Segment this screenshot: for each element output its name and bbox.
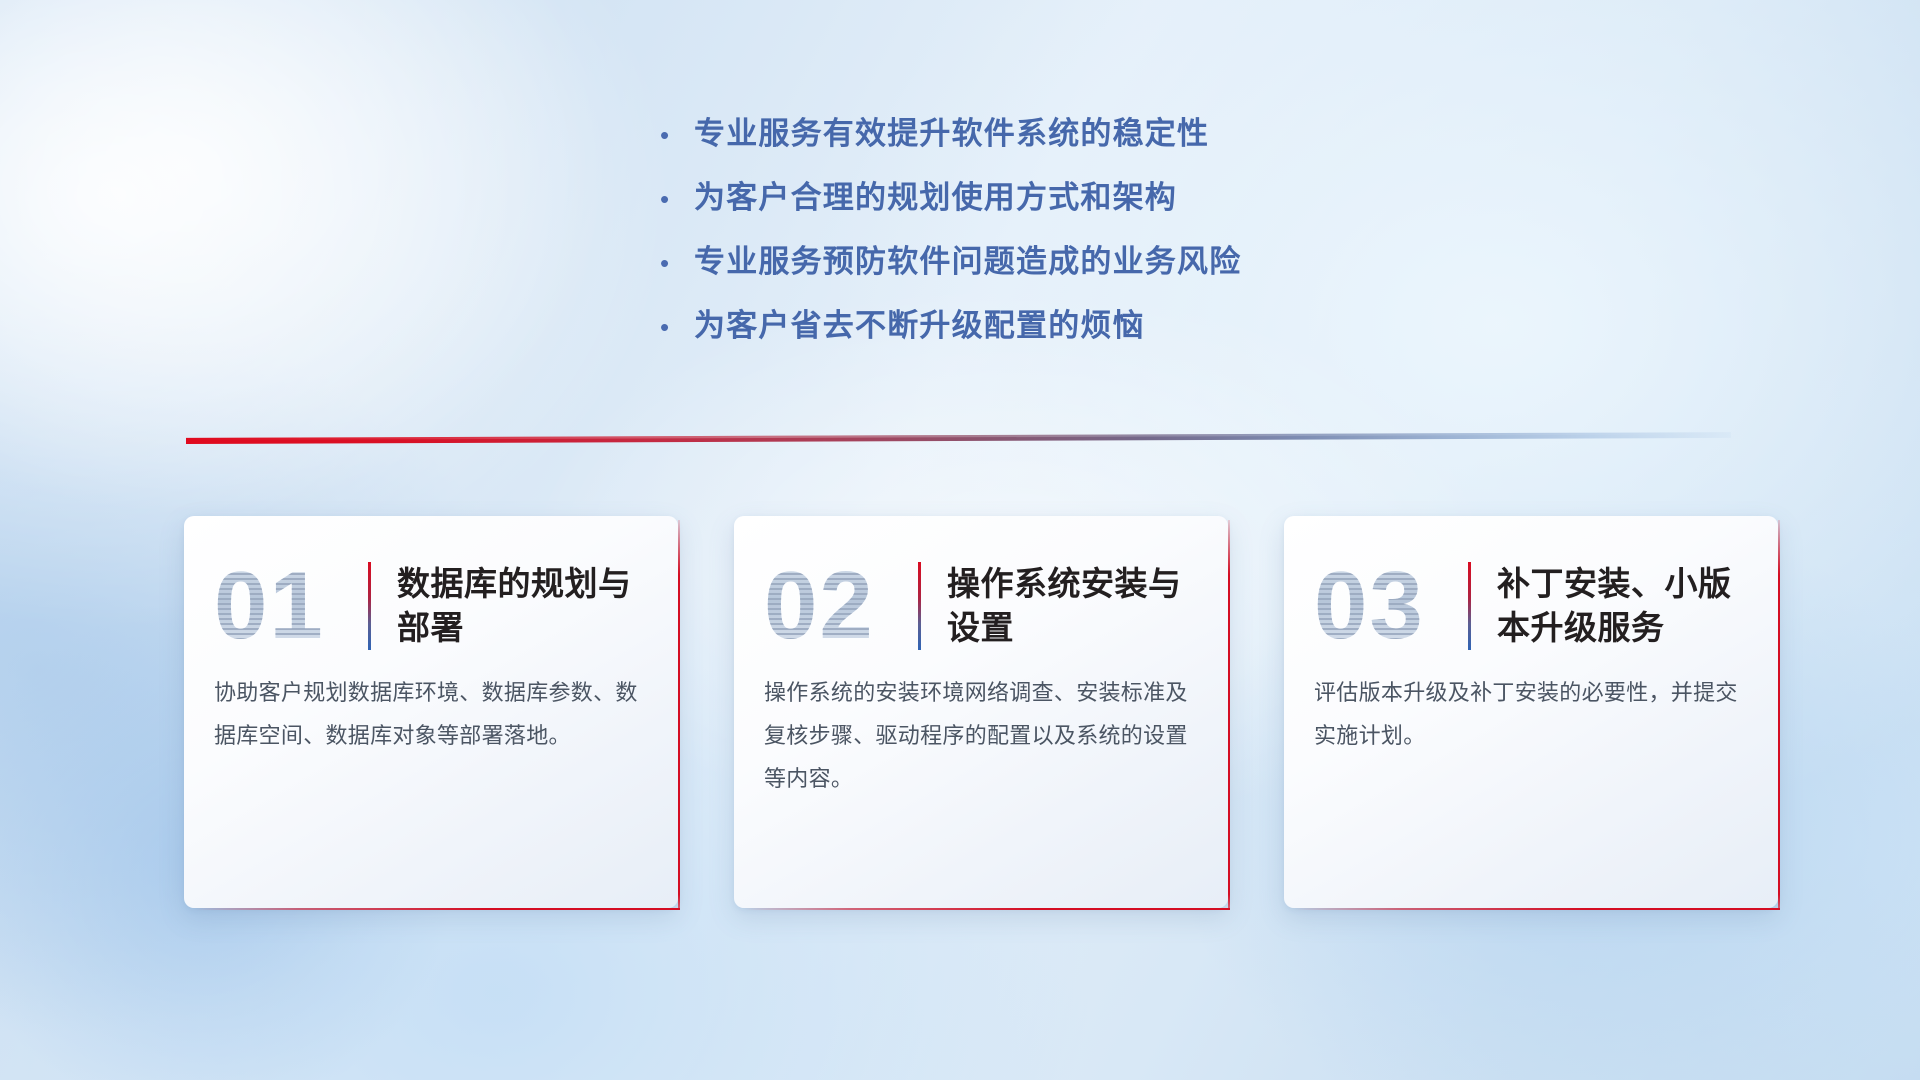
card-divider-rule xyxy=(1468,562,1471,650)
bullet-text: 为客户合理的规划使用方式和架构 xyxy=(694,172,1177,217)
card-header: 03 补丁安装、小版本升级服务 xyxy=(1284,516,1778,662)
card-body-text: 操作系统的安装环境网络调查、安装标准及复核步骤、驱动程序的配置以及系统的设置等内… xyxy=(734,662,1228,801)
card-title: 操作系统安装与设置 xyxy=(947,562,1198,649)
list-item: • 专业服务有效提升软件系统的稳定性 xyxy=(660,108,1720,172)
card-accent-bottom xyxy=(1294,908,1780,910)
bullet-dot-icon: • xyxy=(660,122,694,148)
card-header: 02 操作系统安装与设置 xyxy=(734,516,1228,662)
bullet-dot-icon: • xyxy=(660,250,694,276)
card-title: 数据库的规划与部署 xyxy=(397,562,648,649)
card-divider-rule xyxy=(368,562,371,650)
card-number: 01 xyxy=(214,558,364,654)
list-item: • 为客户合理的规划使用方式和架构 xyxy=(660,172,1720,236)
card-accent-bottom xyxy=(744,908,1230,910)
card-number: 02 xyxy=(764,558,914,654)
background-glow-top-left xyxy=(0,0,640,540)
service-card[interactable]: 03 补丁安装、小版本升级服务 评估版本升级及补丁安装的必要性，并提交实施计划。 xyxy=(1284,516,1778,908)
bullet-text: 专业服务预防软件问题造成的业务风险 xyxy=(694,236,1241,281)
card-accent-right xyxy=(678,520,680,910)
service-card[interactable]: 01 数据库的规划与部署 协助客户规划数据库环境、数据库参数、数据库空间、数据库… xyxy=(184,516,678,908)
service-card[interactable]: 02 操作系统安装与设置 操作系统的安装环境网络调查、安装标准及复核步骤、驱动程… xyxy=(734,516,1228,908)
card-header: 01 数据库的规划与部署 xyxy=(184,516,678,662)
card-body-text: 评估版本升级及补丁安装的必要性，并提交实施计划。 xyxy=(1284,662,1778,758)
card-accent-right xyxy=(1778,520,1780,910)
card-body-text: 协助客户规划数据库环境、数据库参数、数据库空间、数据库对象等部署落地。 xyxy=(184,662,678,758)
bullet-dot-icon: • xyxy=(660,186,694,212)
card-title: 补丁安装、小版本升级服务 xyxy=(1497,562,1748,649)
card-accent-right xyxy=(1228,520,1230,910)
bullet-text: 专业服务有效提升软件系统的稳定性 xyxy=(694,108,1209,153)
bullet-text: 为客户省去不断升级配置的烦恼 xyxy=(694,300,1145,345)
section-divider xyxy=(186,428,1731,444)
list-item: • 专业服务预防软件问题造成的业务风险 xyxy=(660,236,1720,300)
bullet-dot-icon: • xyxy=(660,314,694,340)
service-card-row: 01 数据库的规划与部署 协助客户规划数据库环境、数据库参数、数据库空间、数据库… xyxy=(184,516,1778,908)
card-divider-rule xyxy=(918,562,921,650)
list-item: • 为客户省去不断升级配置的烦恼 xyxy=(660,300,1720,364)
card-number: 03 xyxy=(1314,558,1464,654)
card-accent-bottom xyxy=(194,908,680,910)
slide-canvas: • 专业服务有效提升软件系统的稳定性 • 为客户合理的规划使用方式和架构 • 专… xyxy=(0,0,1920,1080)
benefits-bullet-list: • 专业服务有效提升软件系统的稳定性 • 为客户合理的规划使用方式和架构 • 专… xyxy=(660,108,1720,364)
